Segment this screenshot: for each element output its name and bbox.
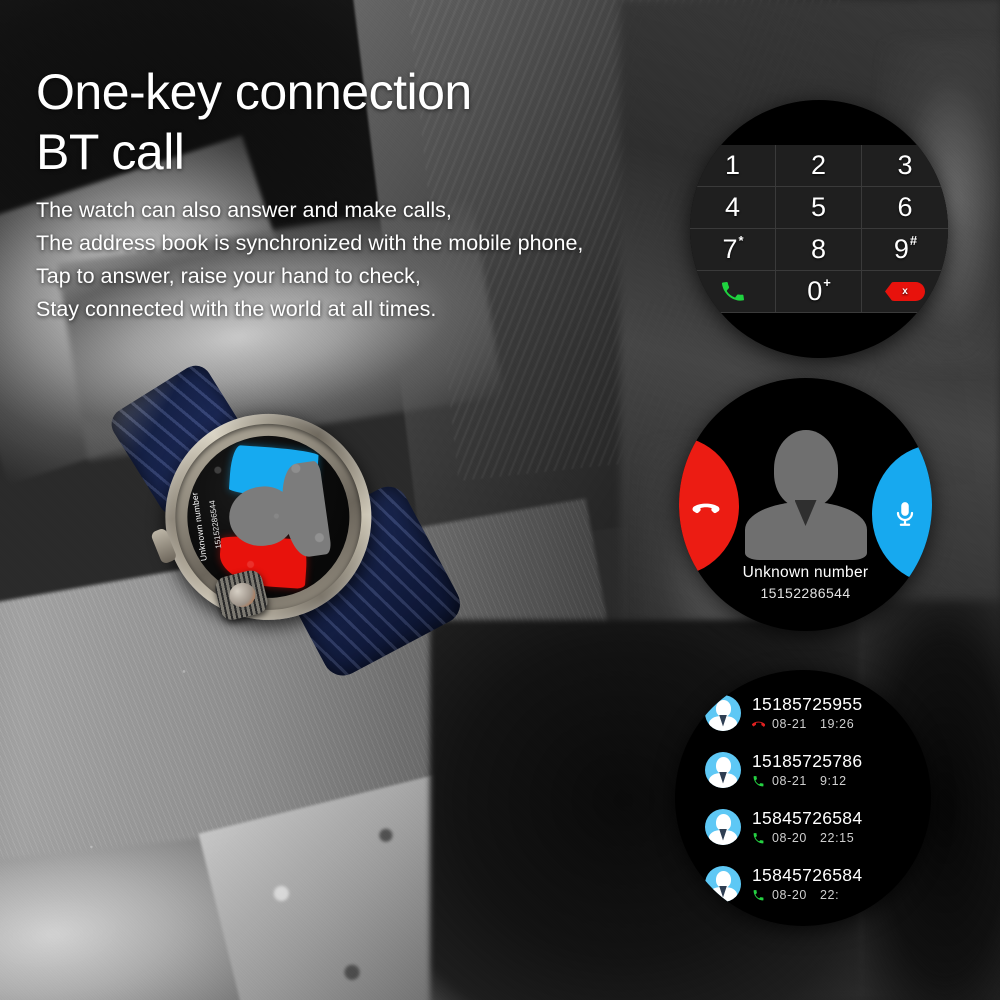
call-log-screen[interactable]: 15185725955 08-21 19:26 15185725786 [675, 670, 931, 926]
call-log-row-text: 15185725786 08-21 9:12 [752, 751, 862, 788]
call-log-row[interactable]: 15845726584 08-20 22: [675, 855, 931, 912]
dialpad-key-7-label: 7 [722, 234, 737, 265]
dialpad-key-1[interactable]: 1 [690, 145, 776, 187]
backspace-icon: x [885, 282, 925, 301]
caller-avatar-head-icon [774, 430, 838, 508]
dialpad-key-5-label: 5 [811, 192, 826, 223]
dialpad-key-4[interactable]: 4 [690, 187, 776, 229]
call-log-meta: 08-20 22: [752, 888, 862, 902]
call-log-row-text: 15185725955 08-21 19:26 [752, 694, 862, 731]
decline-call-button[interactable] [679, 436, 739, 576]
hang-up-icon [689, 489, 723, 523]
dial-delete-button[interactable]: x [862, 271, 948, 313]
call-log-row[interactable]: 15185725955 08-21 19:26 [675, 684, 931, 741]
dialpad-key-1-label: 1 [725, 150, 740, 181]
missed-call-icon [752, 718, 765, 731]
contact-avatar-icon [705, 809, 741, 845]
call-log-row-text: 15845726584 08-20 22:15 [752, 808, 862, 845]
answer-call-button[interactable] [872, 444, 932, 584]
call-log-meta: 08-21 19:26 [752, 717, 862, 731]
contact-avatar-icon [705, 695, 741, 731]
backspace-label: x [902, 286, 908, 297]
dialpad-key-4-label: 4 [725, 192, 740, 223]
dialpad-key-0-sub: + [823, 275, 831, 290]
page-title-line-1: One-key connection [36, 62, 676, 122]
call-log-meta: 08-20 22:15 [752, 831, 862, 845]
call-log-number: 15185725955 [752, 694, 862, 715]
watch-screen-glare [179, 428, 357, 606]
caller-name: Unknown number [679, 564, 932, 582]
dialpad-grid: 1 2 3 4 5 6 7* 8 9# 0+ x [690, 145, 948, 313]
call-log-time: 19:26 [820, 717, 854, 731]
dialpad-key-8[interactable]: 8 [776, 229, 862, 271]
subcopy-line-1: The watch can also answer and make calls… [36, 194, 676, 227]
dialpad-key-7[interactable]: 7* [690, 229, 776, 271]
dialpad-key-3[interactable]: 3 [862, 145, 948, 187]
dialpad-key-6[interactable]: 6 [862, 187, 948, 229]
call-log-number: 15185725786 [752, 751, 862, 772]
answered-call-icon [752, 889, 765, 902]
subcopy-line-4: Stay connected with the world at all tim… [36, 293, 676, 326]
call-log-list: 15185725955 08-21 19:26 15185725786 [675, 684, 931, 912]
dialpad-key-6-label: 6 [897, 192, 912, 223]
call-log-number: 15845726584 [752, 808, 862, 829]
dialpad-key-9-label: 9 [894, 234, 909, 265]
phone-handset-icon [720, 279, 746, 305]
call-log-date: 08-20 [772, 888, 807, 902]
avatar-tie-icon [719, 715, 727, 727]
headline-block: One-key connection BT call The watch can… [36, 62, 676, 326]
contact-avatar-icon [705, 866, 741, 902]
contact-avatar-icon [705, 752, 741, 788]
dialpad-key-3-label: 3 [897, 150, 912, 181]
smartwatch-on-wrist: Unknown number 15152286544 [120, 384, 417, 661]
dialpad-key-2-label: 2 [811, 150, 826, 181]
dialpad-key-5[interactable]: 5 [776, 187, 862, 229]
call-log-meta: 08-21 9:12 [752, 774, 862, 788]
subcopy-line-3: Tap to answer, raise your hand to check, [36, 260, 676, 293]
caller-number: 15152286544 [679, 585, 932, 601]
dial-call-button[interactable] [690, 271, 776, 313]
dialpad-key-2[interactable]: 2 [776, 145, 862, 187]
dialpad-key-0-label: 0 [807, 276, 822, 307]
call-log-date: 08-20 [772, 831, 807, 845]
answered-call-icon [752, 775, 765, 788]
watch-screen[interactable]: Unknown number 15152286544 [179, 428, 357, 606]
avatar-tie-icon [719, 886, 727, 898]
dialpad-key-8-label: 8 [811, 234, 826, 265]
subcopy-block: The watch can also answer and make calls… [36, 194, 676, 326]
call-log-row[interactable]: 15845726584 08-20 22:15 [675, 798, 931, 855]
page-title-line-2: BT call [36, 122, 676, 182]
dialpad-key-7-sub: * [738, 233, 743, 248]
subcopy-line-2: The address book is synchronized with th… [36, 227, 676, 260]
dialpad-key-9-sub: # [910, 233, 917, 248]
avatar-tie-icon [719, 829, 727, 841]
watch-crown-dot [227, 580, 258, 610]
call-log-row[interactable]: 15185725786 08-21 9:12 [675, 741, 931, 798]
call-log-time: 9:12 [820, 774, 847, 788]
call-log-time: 22:15 [820, 831, 854, 845]
microphone-icon [890, 499, 920, 529]
call-log-date: 08-21 [772, 774, 807, 788]
incoming-call-screen[interactable]: Unknown number 15152286544 [679, 378, 932, 631]
call-log-number: 15845726584 [752, 865, 862, 886]
call-log-time: 22: [820, 888, 839, 902]
call-log-date: 08-21 [772, 717, 807, 731]
avatar-tie-icon [719, 772, 727, 784]
dialpad-key-0[interactable]: 0+ [776, 271, 862, 313]
watch-bezel: Unknown number 15152286544 [166, 415, 370, 619]
dialpad-key-9[interactable]: 9# [862, 229, 948, 271]
dialer-screen[interactable]: 1 2 3 4 5 6 7* 8 9# 0+ x [690, 100, 948, 358]
answered-call-icon [752, 832, 765, 845]
call-log-row-text: 15845726584 08-20 22: [752, 865, 862, 902]
